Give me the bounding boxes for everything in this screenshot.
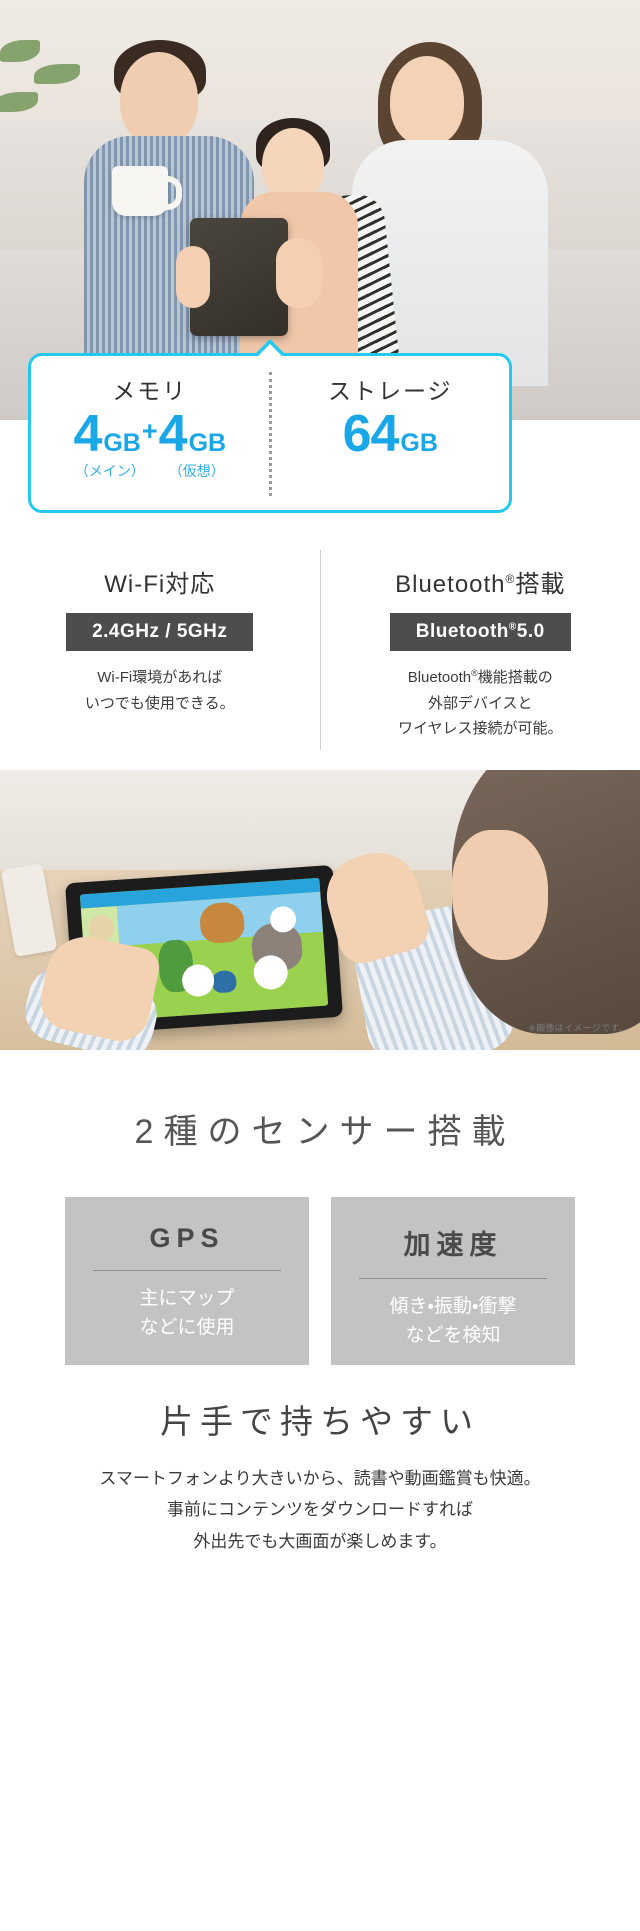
accel-desc-line-1: 傾き・振動・衝撃 [390, 1296, 517, 1317]
memory-sublabels: （メイン） （仮想） [31, 461, 269, 481]
bird-graphic [212, 970, 237, 994]
connectivity-section: Wi-Fi対応 2.4GHz / 5GHz Wi-Fi環境があれば いつでも使用… [0, 540, 640, 790]
registered-mark-icon: ® [506, 572, 516, 586]
plus-symbol: + [142, 416, 158, 447]
memory-virtual-unit: GB [189, 429, 227, 458]
storage-value: 64 GB [343, 408, 438, 460]
bt-desc-line-3: ワイヤレス接続が可能。 [398, 720, 563, 737]
wifi-desc-line-1: Wi-Fi環境があれば [97, 669, 222, 686]
gps-description: 主にマップ などに使用 [139, 1285, 234, 1342]
wifi-badge: 2.4GHz / 5GHz [66, 613, 253, 651]
accel-desc-line-2: などを検知 [405, 1325, 500, 1346]
sensor-section: 2種のセンサー搭載 GPS 主にマップ などに使用 加速度 傾き・振動・衝撃 な… [0, 1060, 640, 1365]
memory-main-unit: GB [103, 429, 141, 458]
sensor-card-list: GPS 主にマップ などに使用 加速度 傾き・振動・衝撃 などを検知 [0, 1197, 640, 1365]
bluetooth-badge-main: Bluetooth [416, 621, 509, 642]
accelerometer-rule [359, 1278, 547, 1279]
storage-title: ストレージ [328, 372, 453, 406]
gps-desc-line-2: などに使用 [139, 1317, 234, 1338]
wifi-column: Wi-Fi対応 2.4GHz / 5GHz Wi-Fi環境があれば いつでも使用… [0, 540, 320, 790]
spec-storage-column: ストレージ 64 GB [272, 356, 510, 510]
bluetooth-description: Bluetooth®機能搭載の 外部デバイスと ワイヤレス接続が可能。 [398, 665, 563, 742]
registered-mark-icon: ® [471, 668, 478, 678]
bottom-heading: 片手で持ちやすい [0, 1395, 640, 1443]
storage-number: 64 [343, 408, 399, 460]
bluetooth-badge: Bluetooth®5.0 [390, 613, 571, 651]
bt-desc-line-1b: 機能搭載の [478, 669, 553, 686]
bottom-section: 片手で持ちやすい スマートフォンより大きいから、読書や動画鑑賞も快適。 事前にコ… [0, 1395, 640, 1557]
memory-title: メモリ [112, 372, 187, 406]
memory-value: 4 GB + 4 GB [73, 408, 226, 460]
wifi-description: Wi-Fi環境があれば いつでも使用できる。 [85, 665, 235, 716]
bluetooth-heading-main: Bluetooth [395, 571, 505, 598]
lion-graphic [199, 901, 246, 944]
sensor-card-accelerometer: 加速度 傾き・振動・衝撃 などを検知 [331, 1197, 575, 1365]
registered-mark-icon: ® [509, 622, 517, 633]
spec-memory-column: メモリ 4 GB + 4 GB （メイン） （仮想） [31, 356, 269, 510]
gps-desc-line-1: 主にマップ [139, 1288, 234, 1309]
bottom-desc-line-1: スマートフォンより大きいから、読書や動画鑑賞も快適。 [99, 1469, 540, 1488]
bluetooth-column: Bluetooth®搭載 Bluetooth®5.0 Bluetooth®機能搭… [321, 540, 640, 790]
accelerometer-description: 傾き・振動・衝撃 などを検知 [390, 1293, 517, 1350]
mother-head [390, 56, 464, 146]
bluetooth-heading: Bluetooth®搭載 [395, 564, 565, 599]
sensor-card-gps: GPS 主にマップ などに使用 [65, 1197, 309, 1365]
accelerometer-title: 加速度 [404, 1223, 503, 1262]
child-head [262, 128, 324, 202]
gps-title: GPS [149, 1223, 224, 1254]
father-hand-left [176, 246, 210, 308]
coffee-mug [112, 166, 168, 216]
memory-virtual-number: 4 [159, 408, 187, 460]
woman-face [452, 830, 548, 960]
storage-unit: GB [400, 429, 438, 458]
bluetooth-heading-suffix: 搭載 [515, 571, 565, 598]
memory-main-number: 4 [73, 408, 101, 460]
image-disclaimer: ※画像はイメージです。 [528, 1021, 628, 1034]
sensor-section-heading: 2種のセンサー搭載 [0, 1060, 640, 1153]
bottom-description: スマートフォンより大きいから、読書や動画鑑賞も快適。 事前にコンテンツをダウンロ… [0, 1463, 640, 1557]
bottom-desc-line-3: 外出先でも大画面が楽しめます。 [193, 1532, 446, 1551]
wifi-desc-line-2: いつでも使用できる。 [85, 695, 235, 712]
gps-rule [93, 1270, 281, 1271]
father-hand-right [276, 238, 322, 308]
bluetooth-badge-version: 5.0 [517, 621, 545, 642]
bt-desc-line-2: 外部デバイスと [428, 695, 533, 712]
wifi-heading: Wi-Fi対応 [104, 564, 215, 599]
father-head [120, 52, 198, 146]
spec-card: メモリ 4 GB + 4 GB （メイン） （仮想） ストレージ 64 GB [28, 353, 512, 513]
bottom-desc-line-2: 事前にコンテンツをダウンロードすれば [167, 1500, 473, 1519]
bt-desc-line-1a: Bluetooth [408, 669, 471, 686]
photo-child-using-tablet: ※画像はイメージです。 [0, 770, 640, 1050]
memory-main-sublabel: （メイン） [75, 461, 145, 481]
memory-virtual-sublabel: （仮想） [169, 461, 225, 481]
